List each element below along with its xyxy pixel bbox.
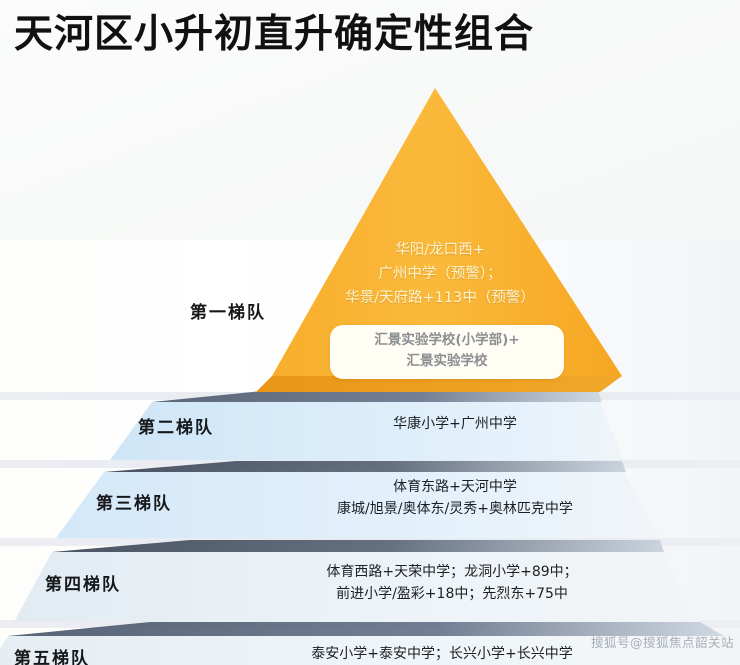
tier-label-1: 第一梯队: [190, 298, 266, 323]
tier-1-line-3: 华景/天府路+113中（预警）: [290, 286, 590, 310]
tier-3-content: 体育东路+天河中学 康城/旭景/奥体东/灵秀+奥林匹克中学: [255, 476, 655, 520]
tier-2-line-1: 华康小学+广州中学: [280, 413, 630, 435]
tier-4-content: 体育西路+天荣中学；龙洞小学+89中； 前进小学/盈彩+18中；先烈东+75中: [232, 561, 672, 605]
tier-label-5: 第五梯队: [14, 644, 90, 665]
tier-1-line-2: 广州中学（预警）；: [290, 262, 590, 286]
tier-4-line-1: 体育西路+天荣中学；龙洞小学+89中；: [232, 561, 672, 583]
tier-label-2: 第二梯队: [138, 413, 214, 438]
row-gap-4: [0, 620, 740, 628]
page-title: 天河区小升初直升确定性组合: [14, 12, 534, 58]
tier-1-line-1: 华阳/龙口西+: [290, 238, 590, 262]
tier-2-content: 华康小学+广州中学: [280, 413, 630, 435]
tier-1-content: 华阳/龙口西+ 广州中学（预警）； 华景/天府路+113中（预警）: [290, 238, 590, 310]
tier-4-line-2: 前进小学/盈彩+18中；先烈东+75中: [232, 583, 672, 605]
tier-1-box-line-1: 汇景实验学校(小学部)+: [336, 330, 558, 351]
tier-label-4: 第四梯队: [45, 570, 121, 595]
row-gap-1: [0, 392, 740, 400]
watermark: 搜狐号@搜狐焦点韶关站: [591, 632, 734, 651]
tier-3-line-2: 康城/旭景/奥体东/灵秀+奥林匹克中学: [255, 498, 655, 520]
tier-1-box-line-2: 汇景实验学校: [336, 351, 558, 372]
row-gap-3: [0, 538, 740, 546]
tier-3-line-1: 体育东路+天河中学: [255, 476, 655, 498]
pyramid-infographic: 天河区小升初直升确定性组合 第一梯队 华阳/龙口西+ 广州中学（预警）； 华景/…: [0, 0, 740, 665]
row-gap-2: [0, 460, 740, 468]
tier-label-3: 第三梯队: [96, 489, 172, 514]
tier-1-highlight-box: 汇景实验学校(小学部)+ 汇景实验学校: [330, 325, 564, 379]
